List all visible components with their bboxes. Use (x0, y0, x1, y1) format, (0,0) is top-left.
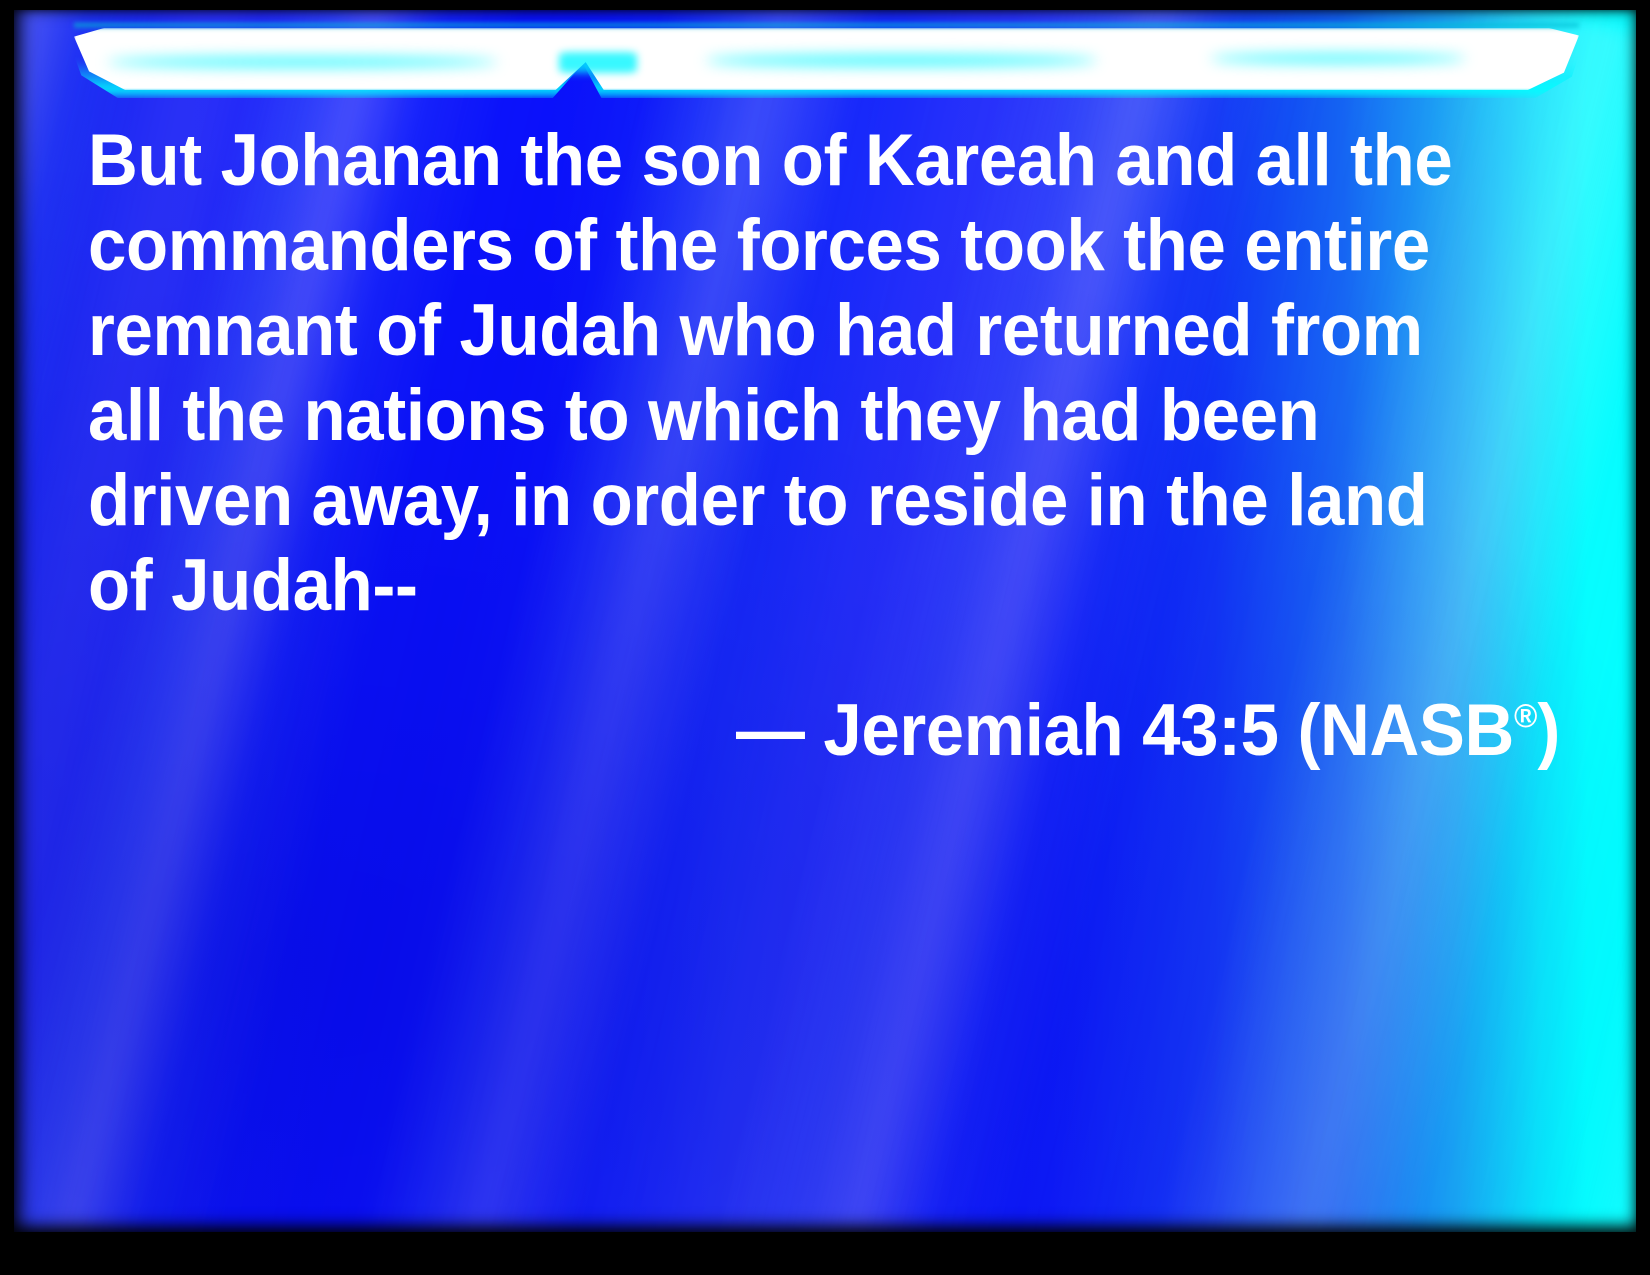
verse-citation: — Jeremiah 43:5 (NASB®) (736, 676, 1560, 772)
top-highlight-banner (74, 28, 1579, 90)
citation-row: — Jeremiah 43:5 (NASB®) (88, 676, 1568, 772)
registered-trademark-icon: ® (1514, 698, 1537, 735)
banner-wisp-center (706, 55, 1097, 66)
verse-line: But Johanan the son of Kareah and all th… (88, 118, 1487, 203)
banner-top-rim (74, 23, 1579, 30)
citation-chapter-verse: 43:5 (1142, 690, 1279, 771)
slide-artwork: But Johanan the son of Kareah and all th… (14, 10, 1636, 1232)
citation-book: Jeremiah (823, 690, 1123, 771)
verse-line: remnant of Judah who had returned from (88, 288, 1487, 373)
verse-line: driven away, in order to reside in the l… (88, 458, 1487, 543)
citation-em-dash: — (736, 690, 823, 771)
banner-wisp-notch (559, 52, 637, 73)
citation-translation-open: (NASB (1279, 690, 1514, 771)
citation-translation-close: ) (1537, 690, 1560, 771)
verse-line: of Judah-- (88, 543, 1487, 628)
banner-wisp-left (107, 57, 498, 68)
verse-text-block: But Johanan the son of Kareah and all th… (88, 118, 1568, 772)
citation-space (1123, 690, 1142, 771)
verse-line: commanders of the forces took the entire (88, 203, 1487, 288)
slide-root: But Johanan the son of Kareah and all th… (0, 0, 1650, 1275)
verse-line: all the nations to which they had been (88, 373, 1487, 458)
